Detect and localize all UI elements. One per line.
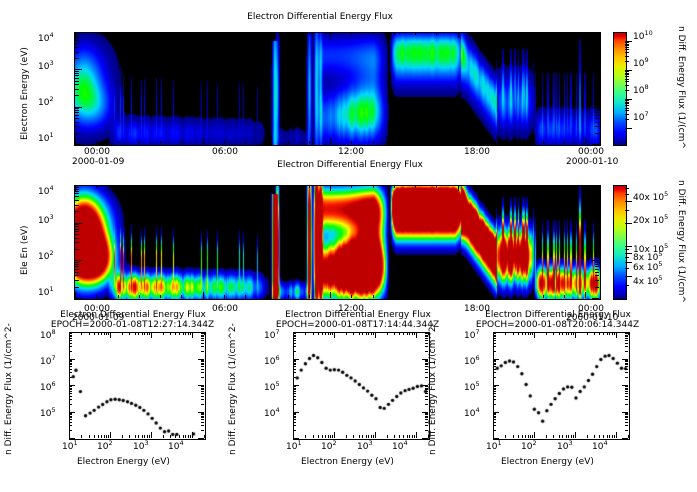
axis-tick (69, 389, 72, 390)
axis-tick (625, 417, 628, 418)
axis-tick (201, 396, 204, 397)
axis-tick (414, 435, 415, 438)
axis-tick (595, 36, 599, 37)
axis-tick (625, 110, 629, 111)
axis-tick (493, 391, 496, 392)
axis-tick (75, 133, 79, 134)
axis-tick (75, 110, 79, 111)
axis-tick (595, 211, 599, 212)
axis-tick (201, 413, 204, 414)
axis-tick (625, 276, 632, 277)
axis-tick (521, 185, 522, 188)
axis-tick (69, 366, 72, 367)
axis-tick (293, 393, 296, 394)
axis-tick (201, 360, 204, 361)
axis-tick (425, 389, 428, 390)
axis-tick (625, 422, 628, 423)
axis-tick (313, 332, 314, 335)
axis-tick (425, 393, 428, 394)
axis-tick (566, 435, 567, 438)
axis-tick (293, 388, 296, 389)
axis-tick (394, 185, 395, 188)
axis-tick (201, 389, 204, 390)
axis-tick (394, 295, 395, 298)
axis-tick (75, 107, 82, 108)
axis-tick (353, 435, 354, 438)
axis-tick (595, 224, 599, 225)
axis-tick (436, 141, 437, 144)
axis-tick (625, 361, 628, 362)
axis-tick (595, 200, 599, 201)
axis-tick (625, 360, 628, 361)
axis-tick (346, 332, 347, 335)
sub2-ytick-4: 104 (264, 409, 280, 419)
axis-tick (595, 78, 599, 79)
axis-tick (585, 292, 586, 298)
axis-tick (422, 359, 428, 360)
axis-tick (118, 141, 119, 144)
axis-tick (564, 295, 565, 298)
axis-tick (595, 110, 599, 111)
axis-tick (198, 332, 204, 333)
axis-tick (595, 234, 599, 235)
axis-tick (75, 193, 79, 194)
axis-tick (622, 385, 628, 386)
axis-tick (625, 49, 629, 50)
axis-tick (493, 377, 496, 378)
axis-tick (192, 332, 193, 338)
axis-tick (69, 385, 75, 386)
axis-tick (530, 332, 531, 335)
axis-tick (493, 412, 499, 413)
axis-tick (532, 435, 533, 438)
axis-tick (493, 360, 496, 361)
axis-tick (322, 435, 323, 438)
axis-tick (595, 231, 599, 232)
axis-tick (625, 386, 628, 387)
axis-tick (425, 338, 428, 339)
axis-tick (266, 185, 267, 188)
axis-tick (160, 32, 161, 35)
subplot-1-plot[interactable] (69, 332, 206, 440)
axis-tick (458, 185, 459, 191)
axis-tick (493, 363, 496, 364)
axis-tick (592, 32, 599, 33)
axis-tick (562, 332, 563, 335)
axis-tick (293, 335, 296, 336)
axis-tick (425, 369, 428, 370)
axis-tick (595, 89, 599, 90)
axis-tick (571, 332, 572, 335)
axis-tick (309, 295, 310, 298)
axis-tick (75, 260, 82, 261)
subplot-1-xlabel: Electron Energy (eV) (77, 457, 170, 467)
axis-tick (425, 336, 428, 337)
axis-tick (513, 435, 514, 438)
axis-tick (422, 412, 428, 413)
axis-tick (190, 435, 191, 438)
axis-tick (625, 85, 629, 86)
axis-tick (198, 412, 204, 413)
axis-tick (595, 38, 599, 39)
axis-tick (609, 435, 610, 438)
axis-tick (415, 295, 416, 298)
axis-tick (628, 435, 629, 438)
axis-tick (493, 351, 496, 352)
axis-tick (75, 32, 82, 33)
axis-tick (75, 266, 79, 267)
axis-tick (595, 112, 599, 113)
middle-colorbar[interactable] (613, 185, 627, 300)
axis-tick (351, 185, 352, 188)
axis-tick (414, 332, 415, 335)
axis-tick (170, 332, 171, 335)
sub2-xtick-4: 104 (392, 442, 408, 452)
axis-tick (69, 377, 72, 378)
axis-tick (425, 351, 428, 352)
axis-tick (293, 359, 299, 360)
axis-tick (493, 333, 496, 334)
axis-tick (571, 435, 572, 438)
axis-tick (534, 332, 535, 338)
axis-tick (625, 108, 629, 109)
axis-tick (614, 332, 615, 335)
axis-tick (625, 73, 629, 74)
axis-tick (595, 118, 599, 119)
axis-tick (139, 295, 140, 298)
axis-tick (394, 141, 395, 144)
top-ytick-2: 102 (38, 98, 54, 108)
axis-tick (293, 361, 296, 362)
axis-tick (183, 435, 184, 438)
axis-tick (69, 417, 72, 418)
axis-tick (521, 295, 522, 298)
mid-ytick-3: 103 (38, 216, 54, 226)
axis-tick (522, 435, 523, 438)
axis-tick (190, 332, 191, 335)
axis-tick (108, 332, 109, 335)
axis-tick (75, 226, 79, 227)
axis-tick (69, 361, 72, 362)
axis-tick (425, 430, 428, 431)
axis-tick (425, 425, 428, 426)
sub3-ytick-7: 107 (464, 331, 480, 341)
axis-tick (334, 332, 335, 338)
axis-tick (75, 138, 76, 144)
axis-tick (592, 260, 599, 261)
axis-tick (201, 425, 204, 426)
axis-tick (595, 269, 599, 270)
axis-tick (622, 438, 628, 439)
subplot-3-title: Electron Differential Energy Flux (463, 310, 653, 320)
sub3-ytick-5: 105 (464, 383, 480, 393)
axis-tick (625, 74, 629, 75)
axis-tick (546, 435, 547, 438)
axis-tick (89, 435, 90, 438)
axis-tick (625, 372, 628, 373)
axis-tick (493, 369, 496, 370)
axis-tick (75, 238, 79, 239)
axis-tick (149, 332, 150, 335)
axis-tick (293, 419, 296, 420)
axis-tick (625, 119, 629, 120)
axis-tick (179, 332, 180, 335)
axis-tick (373, 141, 374, 144)
axis-tick (201, 335, 204, 336)
top-panel-ylabel: Electron Energy (eV) (20, 30, 30, 140)
axis-tick (564, 141, 565, 144)
axis-tick (288, 295, 289, 298)
axis-tick (403, 332, 404, 335)
axis-tick (425, 419, 428, 420)
axis-tick (96, 141, 97, 144)
axis-tick (129, 435, 130, 438)
axis-tick (625, 262, 632, 263)
axis-tick (425, 363, 428, 364)
axis-tick (293, 389, 296, 390)
axis-tick (425, 360, 428, 361)
axis-tick (201, 377, 204, 378)
axis-tick (353, 332, 354, 335)
top-spectrogram[interactable] (74, 32, 601, 146)
axis-tick (493, 419, 496, 420)
axis-tick (595, 272, 599, 273)
axis-tick (293, 332, 299, 333)
axis-tick (75, 75, 79, 76)
axis-tick (546, 332, 547, 335)
axis-tick (69, 419, 72, 420)
subplot-2-plot[interactable] (293, 332, 430, 440)
axis-tick (69, 364, 72, 365)
axis-tick (293, 369, 296, 370)
axis-tick (69, 393, 72, 394)
axis-tick (493, 388, 496, 389)
axis-tick (595, 73, 599, 74)
top-ytick-4: 104 (38, 34, 54, 44)
axis-tick (201, 336, 204, 337)
axis-tick (75, 144, 82, 145)
axis-tick (203, 32, 204, 38)
axis-tick (522, 332, 523, 335)
axis-tick (201, 364, 204, 365)
axis-tick (425, 333, 428, 334)
axis-tick (625, 377, 628, 378)
axis-tick (106, 435, 107, 438)
top-xtick-1: 06:00 (212, 147, 238, 157)
axis-tick (595, 122, 599, 123)
axis-tick (201, 416, 204, 417)
axis-tick (625, 351, 628, 352)
axis-tick (585, 138, 586, 144)
axis-tick (75, 262, 79, 263)
axis-tick (625, 45, 629, 46)
axis-tick (595, 84, 599, 85)
axis-tick (198, 385, 204, 386)
axis-tick (493, 366, 496, 367)
top-colorbar-label: n Diff. Energy Flux (1/(cm^ (676, 26, 686, 156)
axis-tick (412, 435, 413, 438)
axis-tick (616, 332, 617, 338)
axis-tick (607, 332, 608, 335)
axis-tick (151, 332, 152, 338)
axis-tick (425, 404, 428, 405)
axis-tick (181, 32, 182, 35)
axis-tick (628, 332, 629, 335)
axis-tick (69, 391, 72, 392)
axis-tick (293, 333, 296, 334)
axis-tick (201, 346, 204, 347)
axis-tick (559, 435, 560, 438)
axis-tick (625, 364, 628, 365)
axis-tick (587, 332, 588, 335)
axis-tick (625, 416, 628, 417)
mid-cbar-tick-6: 6x 105 (633, 263, 663, 273)
axis-tick (75, 205, 79, 206)
axis-tick (407, 435, 408, 438)
axis-tick (69, 351, 72, 352)
axis-tick (328, 332, 329, 335)
axis-tick (75, 47, 79, 48)
axis-tick (325, 332, 326, 335)
axis-tick (518, 435, 519, 438)
axis-tick (69, 338, 72, 339)
axis-tick (75, 229, 79, 230)
axis-tick (201, 338, 204, 339)
axis-tick (293, 364, 296, 365)
axis-tick (493, 416, 496, 417)
axis-tick (409, 332, 410, 335)
axis-tick (575, 332, 576, 338)
axis-tick (595, 115, 599, 116)
axis-tick (625, 42, 629, 43)
axis-tick (293, 404, 296, 405)
axis-tick (399, 435, 400, 438)
axis-tick (622, 412, 628, 413)
axis-tick (493, 389, 496, 390)
axis-tick (69, 336, 72, 337)
axis-tick (288, 32, 289, 35)
axis-tick (81, 435, 82, 438)
axis-tick (75, 200, 79, 201)
axis-tick (595, 264, 599, 265)
axis-tick (181, 141, 182, 144)
axis-tick (147, 332, 148, 335)
axis-tick (625, 391, 628, 392)
subplot-3-ylabel: n Diff. Energy Flux (1/(cm^2- (428, 325, 438, 455)
axis-tick (425, 377, 428, 378)
top-xtick-3: 18:00 (464, 147, 490, 157)
axis-tick (625, 396, 628, 397)
axis-tick (75, 112, 79, 113)
axis-tick (493, 338, 496, 339)
axis-tick (160, 185, 161, 188)
axis-tick (139, 185, 140, 188)
axis-tick (625, 369, 628, 370)
axis-tick (625, 419, 628, 420)
axis-tick (412, 332, 413, 335)
axis-tick (288, 185, 289, 188)
axis-tick (493, 386, 496, 387)
axis-tick (351, 141, 352, 144)
axis-tick (500, 295, 501, 298)
mid-ytick-4: 104 (38, 187, 54, 197)
axis-tick (599, 332, 600, 335)
subplot-3-plot[interactable] (493, 332, 630, 440)
axis-tick (614, 435, 615, 438)
axis-tick (75, 73, 79, 74)
axis-tick (568, 332, 569, 335)
axis-tick (493, 336, 496, 337)
axis-tick (118, 185, 119, 188)
axis-tick (135, 435, 136, 438)
axis-tick (110, 332, 111, 338)
axis-tick (224, 295, 225, 298)
axis-tick (625, 70, 632, 71)
axis-tick (436, 32, 437, 35)
axis-tick (625, 103, 629, 104)
top-cbar-tick-8: 108 (633, 86, 649, 96)
axis-tick (175, 332, 176, 335)
mid-cbar-tick-40: 40x 105 (633, 193, 668, 203)
axis-tick (359, 332, 360, 335)
axis-tick (69, 332, 75, 333)
axis-tick (293, 351, 296, 352)
axis-tick (203, 292, 204, 298)
axis-tick (69, 404, 72, 405)
axis-tick (69, 335, 72, 336)
axis-tick (101, 435, 102, 438)
axis-tick (104, 435, 105, 438)
axis-tick (75, 95, 79, 96)
axis-tick (75, 191, 79, 192)
axis-tick (493, 396, 496, 397)
axis-tick (170, 435, 171, 438)
axis-tick (293, 363, 296, 364)
axis-tick (144, 435, 145, 438)
axis-tick (293, 414, 296, 415)
middle-panel-ylabel: Ele En (eV) (20, 205, 30, 275)
axis-tick (425, 416, 428, 417)
axis-tick (75, 115, 79, 116)
axis-tick (204, 435, 205, 438)
axis-tick (313, 435, 314, 438)
axis-tick (394, 332, 395, 335)
axis-tick (530, 435, 531, 438)
middle-spectrogram[interactable] (74, 185, 601, 300)
sub3-xtick-4: 104 (592, 442, 608, 452)
axis-tick (122, 332, 123, 335)
subplot-2-xlabel: Electron Energy (eV) (301, 457, 394, 467)
axis-tick (201, 393, 204, 394)
axis-tick (493, 346, 496, 347)
subplot-1-title: Electron Differential Energy Flux (38, 310, 228, 320)
axis-tick (375, 332, 376, 338)
axis-tick (75, 84, 79, 85)
axis-tick (293, 422, 296, 423)
sub3-ytick-4: 104 (464, 409, 480, 419)
axis-tick (362, 435, 363, 438)
axis-tick (201, 417, 204, 418)
axis-tick (493, 404, 496, 405)
axis-tick (330, 292, 331, 298)
axis-tick (595, 191, 599, 192)
axis-tick (595, 71, 599, 72)
axis-tick (493, 361, 496, 362)
axis-tick (139, 32, 140, 35)
axis-tick (407, 332, 408, 335)
axis-tick (98, 435, 99, 438)
axis-tick (625, 128, 632, 129)
